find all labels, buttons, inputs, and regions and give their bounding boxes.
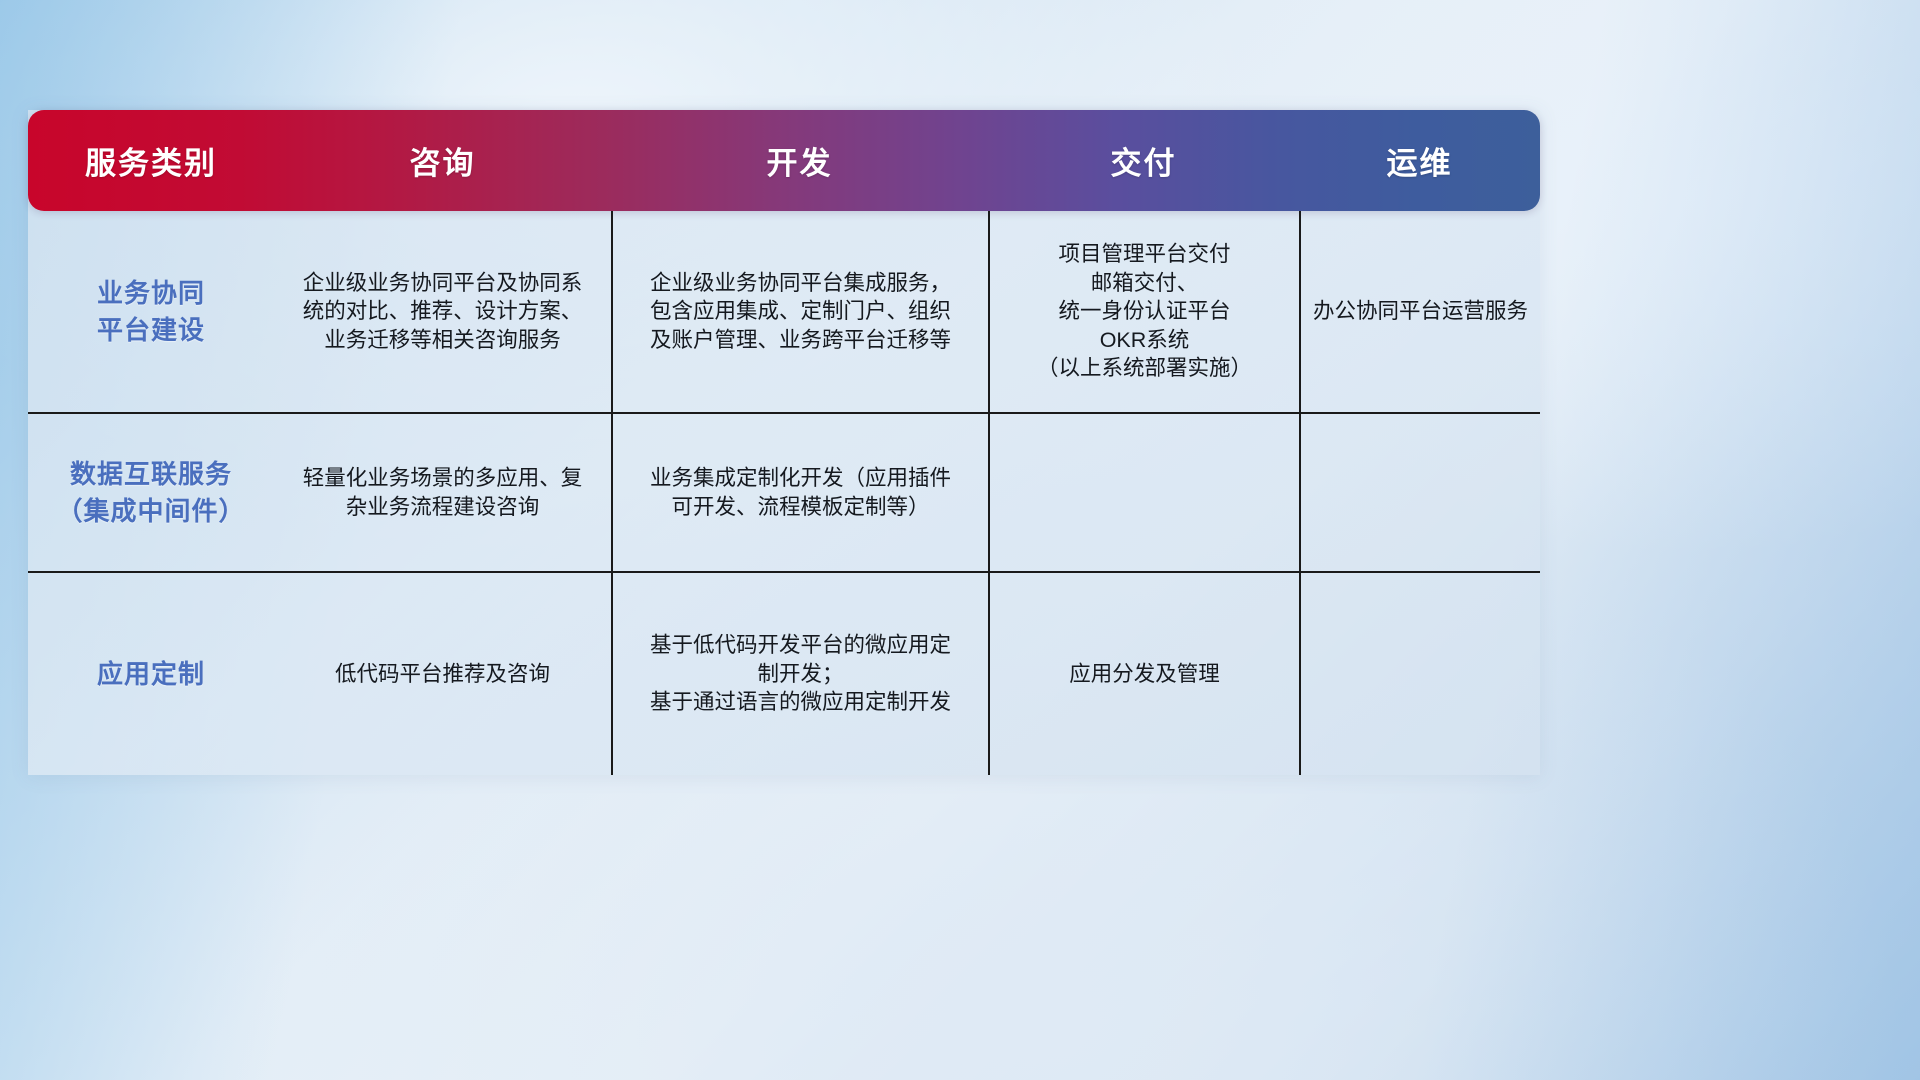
cell-r3-operations (1299, 573, 1540, 775)
table-header-row: 服务类别 咨询 开发 交付 运维 (28, 110, 1540, 211)
slide-canvas: 服务类别 咨询 开发 交付 运维 业务协同 平台建设 企业级业务协同平台及协同系… (0, 0, 1920, 1080)
table-row: 数据互联服务 （集成中间件） 轻量化业务场景的多应用、复 杂业务流程建设咨询 业… (28, 414, 1540, 573)
column-header-consulting: 咨询 (274, 138, 611, 183)
row-label-business-collaboration: 业务协同 平台建设 (28, 211, 274, 412)
column-header-category: 服务类别 (28, 138, 274, 183)
column-header-development: 开发 (611, 138, 988, 183)
cell-r1-delivery: 项目管理平台交付 邮箱交付、 统一身份认证平台 OKR系统 （以上系统部署实施） (988, 211, 1299, 412)
table-row: 应用定制 低代码平台推荐及咨询 基于低代码开发平台的微应用定 制开发； 基于通过… (28, 573, 1540, 775)
cell-r3-development: 基于低代码开发平台的微应用定 制开发； 基于通过语言的微应用定制开发 (611, 573, 988, 775)
cell-r2-consulting: 轻量化业务场景的多应用、复 杂业务流程建设咨询 (274, 414, 611, 571)
row-label-data-interconnect: 数据互联服务 （集成中间件） (28, 414, 274, 571)
table-row: 业务协同 平台建设 企业级业务协同平台及协同系 统的对比、推荐、设计方案、 业务… (28, 211, 1540, 414)
cell-r2-development: 业务集成定制化开发（应用插件 可开发、流程模板定制等） (611, 414, 988, 571)
cell-r1-consulting: 企业级业务协同平台及协同系 统的对比、推荐、设计方案、 业务迁移等相关咨询服务 (274, 211, 611, 412)
cell-r3-delivery: 应用分发及管理 (988, 573, 1299, 775)
column-header-operations: 运维 (1299, 138, 1540, 183)
cell-r2-operations (1299, 414, 1540, 571)
row-label-app-customization: 应用定制 (28, 573, 274, 775)
cell-r3-consulting: 低代码平台推荐及咨询 (274, 573, 611, 775)
services-table: 服务类别 咨询 开发 交付 运维 业务协同 平台建设 企业级业务协同平台及协同系… (28, 110, 1540, 775)
cell-r2-delivery (988, 414, 1299, 571)
column-header-delivery: 交付 (988, 138, 1299, 183)
table-body: 业务协同 平台建设 企业级业务协同平台及协同系 统的对比、推荐、设计方案、 业务… (28, 211, 1540, 775)
cell-r1-development: 企业级业务协同平台集成服务， 包含应用集成、定制门户、组织 及账户管理、业务跨平… (611, 211, 988, 412)
cell-r1-operations: 办公协同平台运营服务 (1299, 211, 1540, 412)
